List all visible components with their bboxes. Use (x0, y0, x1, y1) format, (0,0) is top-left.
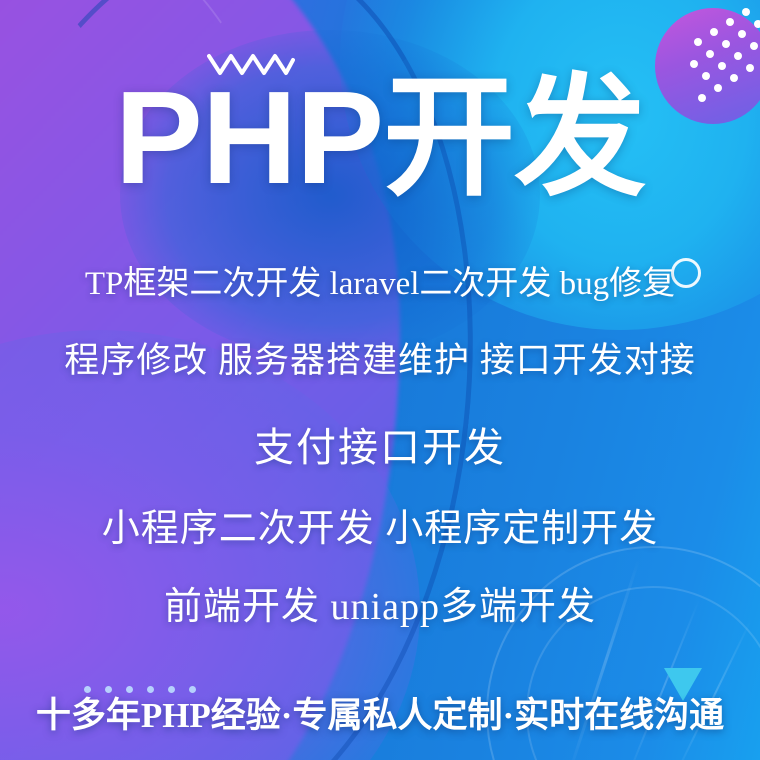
service-line: 小程序二次开发 小程序定制开发 (0, 510, 760, 548)
service-line: 程序修改 服务器搭建维护 接口开发对接 (0, 343, 760, 378)
service-line: 前端开发 uniapp多端开发 (0, 588, 760, 626)
service-line: 支付接口开发 (0, 428, 760, 468)
page-title: PHP开发 (0, 72, 760, 204)
service-line: TP框架二次开发 laravel二次开发 bug修复 (0, 268, 760, 301)
footer-tagline: 十多年PHP经验·专属私人定制·实时在线沟通 (0, 698, 760, 733)
promo-banner: PHP开发 TP框架二次开发 laravel二次开发 bug修复 程序修改 服务… (0, 0, 760, 760)
dot-row-icon (84, 686, 196, 693)
service-list: TP框架二次开发 laravel二次开发 bug修复 程序修改 服务器搭建维护 … (0, 268, 760, 626)
